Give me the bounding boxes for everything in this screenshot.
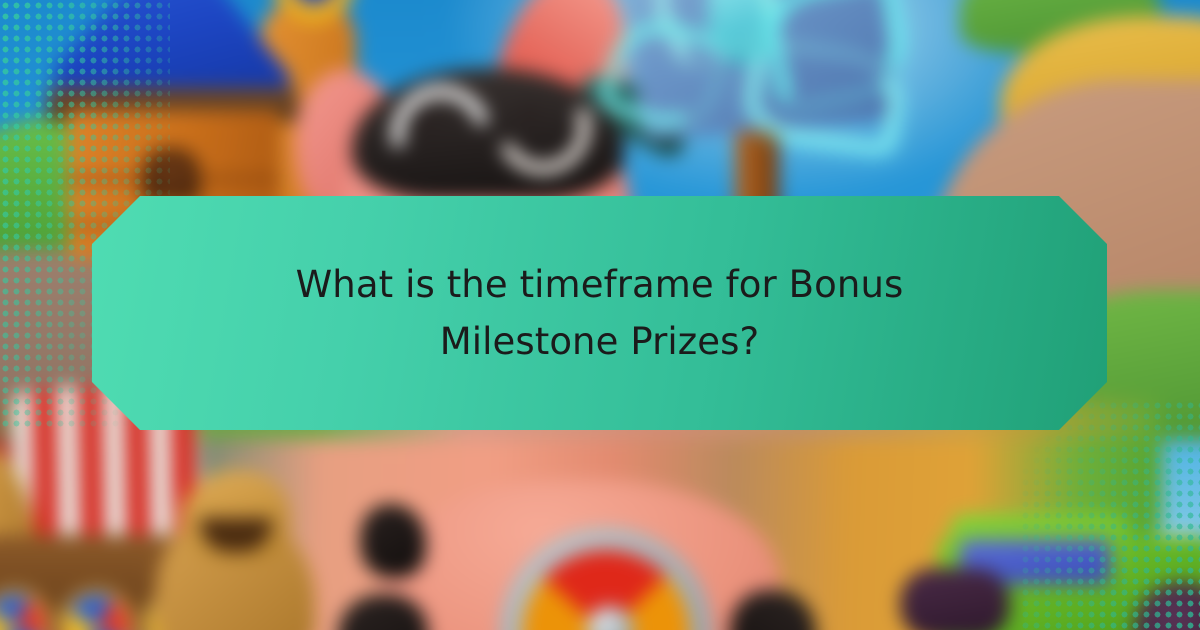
pig-pupil-left bbox=[416, 110, 442, 136]
screenshot-stage: What is the timeframe for Bonus Mileston… bbox=[0, 0, 1200, 630]
truck-tire-front bbox=[900, 568, 1010, 630]
pig-pupil-right bbox=[516, 102, 542, 128]
question-title: What is the timeframe for Bonus Mileston… bbox=[230, 256, 970, 371]
pig-hoof-upper-left bbox=[360, 504, 426, 578]
question-banner: What is the timeframe for Bonus Mileston… bbox=[92, 196, 1107, 430]
house-door bbox=[142, 148, 200, 202]
